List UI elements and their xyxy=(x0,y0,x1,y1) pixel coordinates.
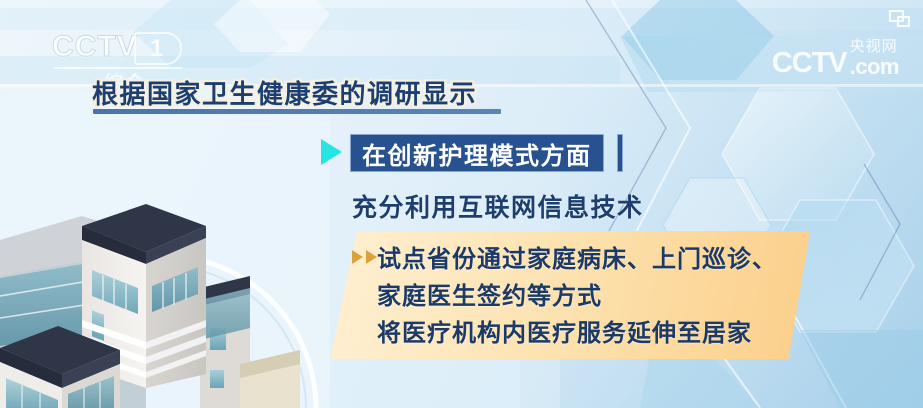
section-chip-label: 在创新护理模式方面 xyxy=(362,136,592,171)
hospital-building-illustration xyxy=(0,178,300,408)
watermark-brand: CCTV xyxy=(772,48,847,78)
headline-underline-rule xyxy=(93,109,501,114)
headline-secondary: 充分利用互联网信息技术 xyxy=(352,188,644,224)
headline-primary: 根据国家卫生健康委的调研显示 xyxy=(92,74,477,111)
cctv-dot-com-watermark: CCTV 央视网 .com xyxy=(772,34,899,78)
callout-line-3: 将医疗机构内医疗服务延伸至居家 xyxy=(377,315,777,352)
callout-text-block: 试点省份通过家庭病床、上门巡诊、 家庭医生签约等方式 将医疗机构内医疗服务延伸至… xyxy=(377,241,777,352)
watermark-cn-name: 央视网 xyxy=(850,39,899,54)
broadcast-screen: CCTV 1 综合 CCTV 央视网 .com 根据国家卫生健康委的调研显示 在… xyxy=(0,0,923,408)
section-chip: 在创新护理模式方面 xyxy=(350,134,604,172)
cctv1-channel-logo: CCTV 1 综合 xyxy=(52,30,187,80)
callout-panel: 试点省份通过家庭病床、上门巡诊、 家庭医生签约等方式 将医疗机构内医疗服务延伸至… xyxy=(330,231,810,359)
play-triangle-icon xyxy=(321,139,342,165)
callout-line-1: 试点省份通过家庭病床、上门巡诊、 xyxy=(377,241,777,278)
section-chip-end-bar xyxy=(617,134,623,172)
callout-line-2: 家庭医生签约等方式 xyxy=(377,278,777,315)
picture-in-picture-icon xyxy=(889,10,911,28)
watermark-domain: .com xyxy=(850,56,899,78)
channel-number: 1 xyxy=(150,35,163,63)
